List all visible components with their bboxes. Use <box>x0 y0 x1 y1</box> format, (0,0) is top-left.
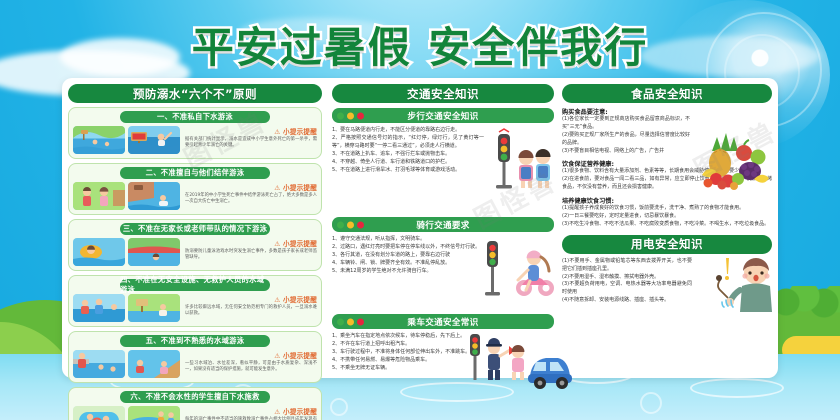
rule-image-right <box>128 126 180 154</box>
list-item: 4、不穿越、倚坐人行道、车行道和铁路道口的护栏。 <box>332 158 484 166</box>
list-item: 5、不乘坐无牌无证车辆。 <box>332 364 472 372</box>
rule-image-left <box>73 126 125 154</box>
tip-header: ⚠ 小提示提醒 <box>185 294 317 304</box>
list-item: 5、不在道路上进行滑旱冰、打羽毛球等体育或游戏活动。 <box>332 166 484 174</box>
tip-header: ⚠ 小提示提醒 <box>185 238 317 248</box>
traffic-section-header: 交通安全知识 <box>332 84 554 103</box>
list-item: 2、不许在车行道上招呼出租汽车。 <box>332 340 472 348</box>
subsection-label: 骑行交通要求 <box>416 219 469 231</box>
cycling-safety-list: 1、遵守交通法规，听从指挥，文明骑车。 2、过路口，遇红灯亮时要把车停在停车线以… <box>332 235 484 275</box>
food-and-electric-column: 食品安全知识 <box>558 78 778 378</box>
subsection-label: 乘车交通安全常识 <box>407 316 478 328</box>
rule-image-left <box>73 406 125 420</box>
rule-title: 二、不准擅自与他们结伴游泳 <box>120 167 270 179</box>
electric-safety-body: (1)不要用手、金属物或铅笔芯等东西去拨弄开关，也不要把它们插到插座孔里。 (2… <box>562 258 772 305</box>
rule-image-left <box>73 238 125 266</box>
rule-image-left <box>73 350 125 378</box>
traffic-dot-yellow <box>347 112 354 119</box>
traffic-light-dots <box>337 221 364 228</box>
tip-text: 在2019年的中小学生死亡事件中结伴游泳死亡占了，绝大多数是多人一次自大伤亡中生… <box>185 193 317 205</box>
traffic-dot-green <box>337 112 344 119</box>
list-item: 2、严格按照交通信号灯的指示，“红灯停，绿灯行，见了黄灯等一等”，横穿马路时要“… <box>332 134 484 150</box>
list-item: (1)不要用手、金属物或铅笔芯等东西去拨弄开关，也不要把它们插到插座孔里。 <box>562 258 692 274</box>
list-item: (4)不随意拆卸、安装电源线路、插座、插头等。 <box>562 297 692 305</box>
rule-image-right <box>128 350 180 378</box>
rule-title: 五、不准到不熟悉的水域游泳 <box>120 335 270 347</box>
rule-item[interactable]: 五、不准到不熟悉的水域游泳 ⚠ 小提示提醒 一些习水域泊、水位差深，看似平静，可… <box>68 331 322 383</box>
list-item: 1、乘坐汽车在指定地点依次候车，待车停稳后，先下后上。 <box>332 332 472 340</box>
list-item: (1)提醒孩子养成良好的饮食习惯，饭前要洗手，洗干净、煮熟了的食物才能食用。 <box>562 205 772 213</box>
traffic-dot-yellow <box>347 318 354 325</box>
list-item: (2)一日三餐要吃好，定时定量进食，切忌暴饮暴食。 <box>562 213 772 221</box>
traffic-dot-yellow <box>347 221 354 228</box>
food-block-subtitle: 购买食品要注意: <box>562 107 772 116</box>
traffic-safety-column: 交通安全知识 步行交通安全知识 <box>328 78 558 378</box>
rule-image-right <box>128 182 180 210</box>
rule-image-right <box>128 238 180 266</box>
rule-title: 三、不准在无家长或老师带队的情况下游泳 <box>120 223 270 235</box>
drowning-section-header: 预防溺水“六个不”原则 <box>68 84 322 103</box>
list-item: 1、要在马路便道内行走，不能区分便道的靠路右边行走。 <box>332 126 484 134</box>
tip-text: 许多比较僻远水域，无任何安全防范相专门的救护人员，一旦溺水难以获救。 <box>185 305 317 317</box>
tree-line-icon <box>778 286 840 326</box>
traffic-dot-green <box>337 318 344 325</box>
traffic-dot-red <box>357 112 364 119</box>
poster-canvas: 平安过暑假 安全伴我行 预防溺水“六个不”原则 一、不准私自下水游泳 ⚠ 小提示… <box>0 0 840 420</box>
girl-riding-pink-scooter-illustration <box>484 237 554 303</box>
rule-title: 四、不准在无安全设施、无救护人员的水域游泳 <box>120 279 270 291</box>
wave-line <box>690 378 784 398</box>
traffic-light-dots <box>337 318 364 325</box>
tip-text: 防溺要防儿童泳池戏水时突发生溺亡事件，多数是孩子家长或老师监管缺导。 <box>185 249 317 261</box>
list-item: 3、车行驶过程中，不准将身体任何部位伸出车外，不准跳车。 <box>332 348 472 356</box>
food-safety-body: 购买食品要注意: (1)各位家长一定要到正规商店购买食品留意商品标识，不买“三无… <box>562 107 772 229</box>
rule-tip: ⚠ 小提示提醒 每年的溺亡事件中不适当的施救致溺亡事件占相大比例且成年发现有人溺… <box>183 406 317 420</box>
tip-text: 据有关部门统计显示，溺水是造成中小学生意外死亡的第一杀手，需要引起青少年溺亡的关… <box>185 137 317 149</box>
traffic-dot-green <box>337 221 344 228</box>
list-item: 2、过路口，遇红灯亮时要把车停在停车线以外，不终信号灯行驶。 <box>332 243 484 251</box>
rule-tip: ⚠ 小提示提醒 据有关部门统计显示，溺水是造成中小学生意外死亡的第一杀手，需要引… <box>183 126 317 149</box>
rule-title: 六、不准不会水性的学生擅自下水施救 <box>120 391 270 403</box>
list-item: 4、车辆铃、闸、锁、牌要齐全有效。不准乱停乱放。 <box>332 259 484 267</box>
list-item: 3、不在道路上扒车、追车，不强行拦车或抛物击车。 <box>332 150 484 158</box>
tip-header: ⚠ 小提示提醒 <box>185 350 317 360</box>
riding-bus-safety-block: 1、乘坐汽车在指定地点依次候车，待车停稳后，先下后上。 2、不许在车行道上招呼出… <box>332 332 554 394</box>
rule-tip: ⚠ 小提示提醒 防溺要防儿童泳池戏水时突发生溺亡事件，多数是孩子家长或老师监管缺… <box>183 238 317 261</box>
list-item: 1、遵守交通法规，听从指挥，文明骑车。 <box>332 235 484 243</box>
tip-header: ⚠ 小提示提醒 <box>185 406 317 416</box>
list-item: (2)要购买正规厂家所生产的食品，尽量选择信誉度比较好的品牌。 <box>562 132 690 148</box>
bubble-icon <box>330 398 348 416</box>
electric-section-header: 用电安全知识 <box>562 235 772 254</box>
rule-item[interactable]: 三、不准在无家长或老师带队的情况下游泳 ⚠ 小提示提醒 防溺要防儿童泳池戏水时突… <box>68 219 322 271</box>
tip-header: ⚠ 小提示提醒 <box>185 126 317 136</box>
electric-safety-list: (1)不要用手、金属物或铅笔芯等东西去拨弄开关，也不要把它们插到插座孔里。 (2… <box>562 258 692 305</box>
riding-bus-safety-list: 1、乘坐汽车在指定地点依次候车，待车停稳后，先下后上。 2、不许在车行道上招呼出… <box>332 332 472 372</box>
walking-safety-block: 1、要在马路便道内行走，不能区分便道的靠路右边行走。 2、严格按照交通信号灯的指… <box>332 126 554 212</box>
traffic-subsection-header[interactable]: 步行交通安全知识 <box>332 108 554 123</box>
list-item: (3)不要超负荷用电，空调、电热水器等大功率电器避免同时使用 <box>562 281 692 297</box>
food-block-text: (1)提醒孩子养成良好的饮食习惯，饭前要洗手，洗干净、煮熟了的食物才能食用。 (… <box>562 205 772 229</box>
rule-item[interactable]: 二、不准擅自与他们结伴游泳 ⚠ 小提示提醒 在2019年的中小学生死亡事件中结伴… <box>68 163 322 215</box>
traffic-dot-red <box>357 221 364 228</box>
list-item: 3、各行其道，在没有划分车道的路上，要靠右边行驶 <box>332 251 484 259</box>
rule-title: 一、不准私自下水游泳 <box>120 111 270 123</box>
tip-header: ⚠ 小提示提醒 <box>185 182 317 192</box>
list-item: (3)不吃生冷食物、不吃不洁瓜果、不吃腐败变质食物，不吃冷菜。不喝生水，不吃垃圾… <box>562 221 772 229</box>
rule-image-right <box>128 294 180 322</box>
cycling-safety-block: 1、遵守交通法规，听从指挥，文明骑车。 2、过路口，遇红灯亮时要把车停在停车线以… <box>332 235 554 309</box>
rule-tip: ⚠ 小提示提醒 许多比较僻远水域，无任何安全防范相专门的救护人员，一旦溺水难以获… <box>183 294 317 317</box>
electric-safety-block: 用电安全知识 <box>562 235 772 305</box>
subsection-label: 步行交通安全知识 <box>407 110 478 122</box>
rule-item[interactable]: 四、不准在无安全设施、无救护人员的水域游泳 ⚠ 小提示提醒 许多比较僻远水域，无… <box>68 275 322 327</box>
traffic-subsection-header[interactable]: 乘车交通安全常识 <box>332 314 554 329</box>
content-columns: 预防溺水“六个不”原则 一、不准私自下水游泳 ⚠ 小提示提醒 据有关部门统计显示… <box>62 78 778 378</box>
child-with-wet-hands-and-plug-illustration <box>712 256 774 316</box>
rule-image-right <box>128 406 180 420</box>
food-block-text: (1)各位家长一定要到正规商店购买食品留意商品标识，不买“三无”食品。 (2)要… <box>562 116 690 155</box>
food-block-subtitle: 培养健康饮食习惯: <box>562 196 772 205</box>
list-item: (1)各位家长一定要到正规商店购买食品留意商品标识，不买“三无”食品。 <box>562 116 690 132</box>
rule-image-left <box>73 294 125 322</box>
food-section-header: 食品安全知识 <box>562 84 772 103</box>
poster-title: 平安过暑假 安全伴我行 <box>0 14 840 75</box>
rule-item[interactable]: 一、不准私自下水游泳 ⚠ 小提示提醒 据有关部门统计显示，溺水是造成中小学生意外… <box>68 107 322 159</box>
traffic-dot-red <box>357 318 364 325</box>
rule-tip: ⚠ 小提示提醒 在2019年的中小学生死亡事件中结伴游泳死亡占了，绝大多数是多人… <box>183 182 317 205</box>
list-item: (3)不要盲目相信电视、网络上的广告，广告并 <box>562 148 690 156</box>
drowning-prevention-column: 预防溺水“六个不”原则 一、不准私自下水游泳 ⚠ 小提示提醒 据有关部门统计显示… <box>62 78 328 378</box>
walking-safety-list: 1、要在马路便道内行走，不能区分便道的靠路右边行走。 2、严格按照交通信号灯的指… <box>332 126 484 175</box>
traffic-light-with-two-children-illustration <box>490 128 554 196</box>
fruit-basket-illustration <box>694 129 770 191</box>
rule-tip: ⚠ 小提示提醒 一些习水域泊、水位差深，看似平静，可是由于水质复杂、深浅不一，如… <box>183 350 317 373</box>
traffic-subsection-header[interactable]: 骑行交通要求 <box>332 217 554 232</box>
list-item: 4、不携带任何易燃、易爆等危险物品乘车。 <box>332 356 472 364</box>
rule-item[interactable]: 六、不准不会水性的学生擅自下水施救 ⚠ 小提示提醒 每年的溺亡事件中不适当的施救… <box>68 387 322 420</box>
rule-image-left <box>73 182 125 210</box>
list-item: 5、未满12周岁的学生绝对不允许骑自行车。 <box>332 267 484 275</box>
traffic-light-dots <box>337 112 364 119</box>
bubble-icon <box>640 392 662 414</box>
tip-text: 一些习水域泊、水位差深，看似平静，可是由于水质复杂、深浅不一，如果没有适当的保护… <box>185 361 317 373</box>
